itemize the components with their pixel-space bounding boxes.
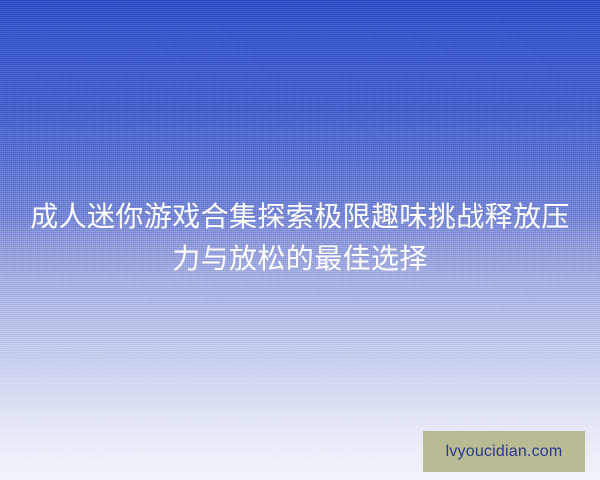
- watermark-badge: lvyoucidian.com: [423, 431, 585, 472]
- hero-image-canvas: 成人迷你游戏合集探索极限趣味挑战释放压力与放松的最佳选择 lvyoucidian…: [0, 0, 600, 480]
- headline-title: 成人迷你游戏合集探索极限趣味挑战释放压力与放松的最佳选择: [0, 196, 600, 280]
- watermark-site-label: lvyoucidian.com: [446, 444, 563, 460]
